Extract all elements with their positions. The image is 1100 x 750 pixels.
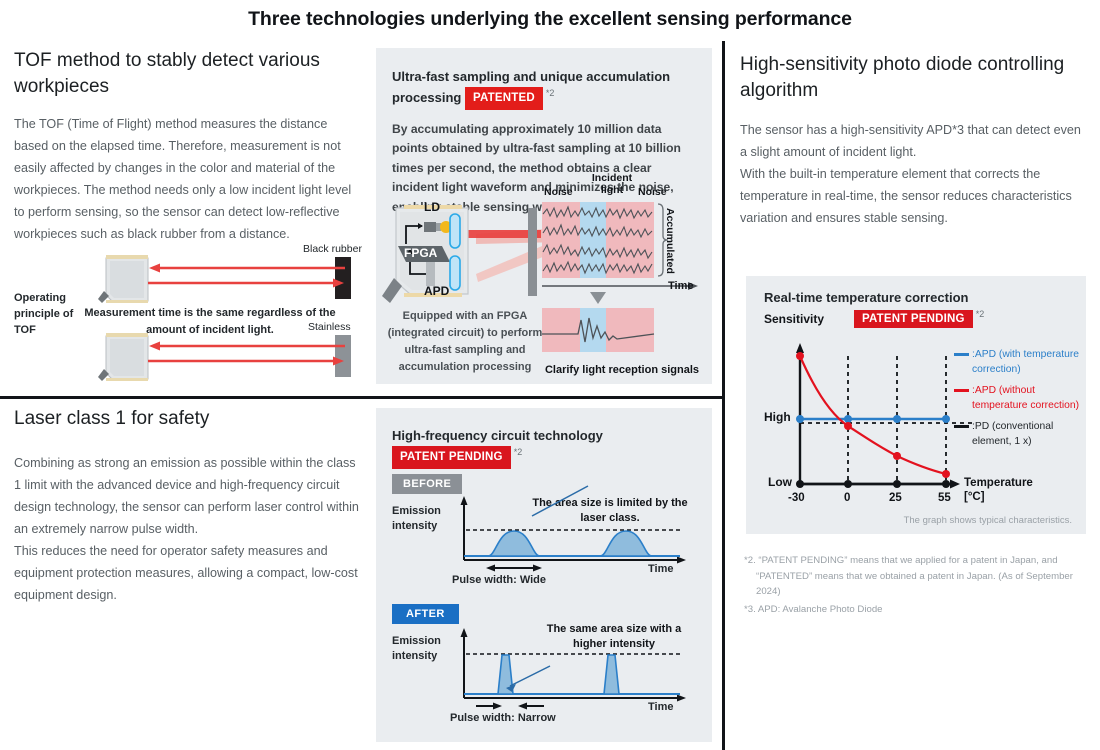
- apd-heading: High-sensitivity photo diode controlling…: [740, 52, 1088, 103]
- hfc-title: High-frequency circuit technology: [392, 428, 603, 443]
- device-caption: Equipped with an FPGA (integrated circui…: [382, 308, 548, 376]
- footnote-2: *2. “PATENT PENDING” means that we appli…: [744, 553, 1089, 600]
- badge-patented-sup: *2: [546, 88, 555, 98]
- chart-xtick-3: 55: [938, 492, 951, 504]
- laser-heading: Laser class 1 for safety: [14, 406, 364, 432]
- after-x-axis-label: Time: [648, 701, 673, 713]
- badge-patent-pending-hfc: PATENT PENDING: [392, 446, 511, 469]
- badge-patent-pending-hfc-sup: *2: [514, 447, 523, 457]
- tof-heading: TOF method to stably detect various work…: [14, 48, 364, 99]
- panel-sampling: Ultra-fast sampling and unique accumulat…: [376, 48, 712, 384]
- chart-xlabel: Temperature [°C]: [964, 476, 1044, 505]
- footnote-3: *3. APD: Avalanche Photo Diode: [744, 602, 1089, 618]
- chart-legend: :APD (with temperature correction) :APD …: [954, 348, 1082, 450]
- legend-swatch-red-icon: [954, 389, 969, 392]
- chart-note: The graph shows typical characteristics.: [904, 515, 1072, 526]
- legend-item-pd: :PD (conventional element, 1 x): [954, 420, 1082, 449]
- chart-title: Real-time temperature correction: [764, 290, 968, 305]
- chart-ylabel: Sensitivity: [764, 312, 824, 326]
- target-label-stainless: Stainless: [308, 321, 351, 333]
- hfc-after: AFTER Emission intensity The same area s…: [392, 604, 696, 732]
- label-apd: APD: [424, 284, 449, 298]
- chart-ytick-low: Low: [768, 475, 792, 489]
- label-fpga: FPGA: [404, 246, 437, 260]
- horizontal-divider: [0, 396, 723, 399]
- legend-item-apd-corrected: :APD (with temperature correction): [954, 348, 1082, 377]
- chart-xtick-1: 0: [844, 492, 850, 504]
- legend-label-apd-corrected: :APD (with temperature correction): [972, 348, 1082, 377]
- result-caption: Clarify light reception signals: [532, 364, 712, 376]
- before-x-axis-label: Time: [648, 563, 673, 575]
- panel-temperature-chart: Real-time temperature correction PATENT …: [746, 276, 1086, 534]
- legend-label-pd: :PD (conventional element, 1 x): [972, 420, 1082, 449]
- section-apd: High-sensitivity photo diode controlling…: [740, 52, 1088, 229]
- infographic-page: Three technologies underlying the excell…: [0, 0, 1100, 750]
- chart-plot-svg: [764, 332, 982, 517]
- sampling-diagram: LD FPGA APD Equipped with an FPGA (integ…: [376, 186, 712, 384]
- chart-ytick-high: High: [764, 410, 791, 424]
- tof-body: The TOF (Time of Flight) method measures…: [14, 113, 364, 245]
- badge-patented: PATENTED: [465, 87, 543, 110]
- laser-body: Combining as strong an emission as possi…: [14, 452, 364, 606]
- chart-xtick-2: 25: [889, 492, 902, 504]
- section-laser: Laser class 1 for safety Combining as st…: [14, 406, 364, 606]
- target-stainless: [335, 335, 351, 377]
- label-accumulated: Accumulated: [664, 208, 676, 274]
- legend-swatch-black-icon: [954, 425, 969, 428]
- legend-label-apd-uncorrected: :APD (without temperature correction): [972, 384, 1082, 413]
- footnotes: *2. “PATENT PENDING” means that we appli…: [744, 553, 1089, 619]
- panel-hfc: High-frequency circuit technology PATENT…: [376, 408, 712, 742]
- badge-patent-pending-chart-sup: *2: [976, 309, 985, 319]
- target-black-rubber: [335, 257, 351, 299]
- badge-patent-pending-chart: PATENT PENDING: [854, 310, 973, 328]
- chart-xtick-0: -30: [788, 492, 805, 504]
- label-time: Time: [668, 280, 693, 292]
- label-noise-right: Noise: [638, 186, 667, 198]
- sensor-icon-top: [98, 255, 148, 303]
- label-noise-left: Noise: [544, 186, 573, 198]
- section-tof: TOF method to stably detect various work…: [14, 48, 364, 245]
- tof-diagram: Operating principle of TOF Black rubber: [10, 243, 370, 391]
- label-ld: LD: [424, 200, 440, 214]
- hfc-before: BEFORE Emission intensity The area size …: [392, 474, 696, 596]
- before-pulse-label: Pulse width: Wide: [452, 574, 546, 586]
- legend-item-apd-uncorrected: :APD (without temperature correction): [954, 384, 1082, 413]
- after-pulse-label: Pulse width: Narrow: [450, 712, 556, 724]
- apd-body: The sensor has a high-sensitivity APD*3 …: [740, 119, 1088, 229]
- sensor-icon-bottom: [98, 333, 148, 381]
- page-title: Three technologies underlying the excell…: [0, 8, 1100, 31]
- legend-swatch-blue-icon: [954, 353, 969, 356]
- label-incident-light: Incident light: [582, 172, 642, 196]
